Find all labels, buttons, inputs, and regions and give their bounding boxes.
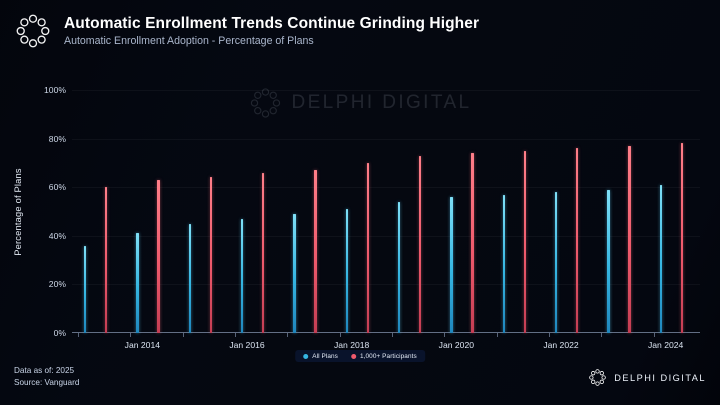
- page-subtitle: Automatic Enrollment Adoption - Percenta…: [64, 35, 479, 47]
- x-tick-label: Jan 2020: [439, 340, 474, 350]
- bar-1-000-participants-2021: [524, 151, 526, 333]
- page-title: Automatic Enrollment Trends Continue Gri…: [64, 15, 479, 33]
- bar-1-000-participants-2019: [419, 156, 421, 333]
- x-tick-mark: [130, 333, 131, 337]
- source-note: Source: Vanguard: [14, 378, 79, 387]
- x-tick-mark: [444, 333, 445, 337]
- bar-all-plans-2020: [450, 197, 452, 333]
- bar-1-000-participants-2017: [314, 170, 316, 333]
- grid-line: [72, 139, 700, 140]
- x-tick-mark: [287, 333, 288, 337]
- grid-line: [72, 187, 700, 188]
- x-tick-mark: [601, 333, 602, 337]
- footer-ring-icon: [588, 368, 607, 387]
- plot-area: Jan 2014Jan 2016Jan 2018Jan 2020Jan 2022…: [72, 90, 700, 333]
- bar-all-plans-2019: [398, 202, 400, 333]
- x-tick-mark: [497, 333, 498, 337]
- footer: Data as of: 2025 Source: Vanguard DELPHI…: [0, 358, 720, 405]
- x-tick-label: Jan 2022: [543, 340, 578, 350]
- x-tick-label: Jan 2018: [334, 340, 369, 350]
- bar-all-plans-2023: [607, 190, 609, 333]
- x-axis-line: [72, 332, 700, 333]
- x-tick-label: Jan 2014: [125, 340, 160, 350]
- bar-all-plans-2022: [555, 192, 557, 333]
- bar-all-plans-2024: [660, 185, 662, 333]
- bar-all-plans-2016: [241, 219, 243, 333]
- bar-1-000-participants-2024: [681, 143, 683, 333]
- header-titles: Automatic Enrollment Trends Continue Gri…: [64, 15, 479, 48]
- y-tick-label: 20%: [49, 279, 66, 289]
- x-tick-mark: [392, 333, 393, 337]
- chart-page: Automatic Enrollment Trends Continue Gri…: [0, 0, 720, 405]
- bar-1-000-participants-2020: [471, 153, 473, 333]
- bar-1-000-participants-2016: [262, 173, 264, 333]
- bar-1-000-participants-2018: [367, 163, 369, 333]
- x-tick-mark: [183, 333, 184, 337]
- x-tick-mark: [235, 333, 236, 337]
- header: Automatic Enrollment Trends Continue Gri…: [0, 0, 720, 62]
- footer-logo: DELPHI DIGITAL: [588, 368, 706, 387]
- bar-all-plans-2013: [84, 246, 86, 333]
- y-tick-label: 80%: [49, 134, 66, 144]
- y-tick-label: 100%: [44, 85, 66, 95]
- x-tick-mark: [340, 333, 341, 337]
- y-tick-label: 0%: [54, 328, 66, 338]
- x-tick-mark: [78, 333, 79, 337]
- bar-1-000-participants-2014: [157, 180, 159, 333]
- y-tick-label: 40%: [49, 231, 66, 241]
- bar-all-plans-2014: [136, 233, 138, 333]
- bar-1-000-participants-2013: [105, 187, 107, 333]
- chart: Percentage of Plans 0%20%40%60%80%100% J…: [0, 62, 720, 352]
- bar-all-plans-2021: [503, 195, 505, 334]
- x-tick-label: Jan 2024: [648, 340, 683, 350]
- grid-line: [72, 284, 700, 285]
- grid-line: [72, 90, 700, 91]
- bar-all-plans-2018: [346, 209, 348, 333]
- bar-1-000-participants-2015: [210, 177, 212, 333]
- bar-all-plans-2017: [293, 214, 295, 333]
- x-tick-mark: [549, 333, 550, 337]
- x-tick-label: Jan 2016: [229, 340, 264, 350]
- bar-1-000-participants-2022: [576, 148, 578, 333]
- delphi-ring-icon: [14, 12, 52, 50]
- data-as-of-note: Data as of: 2025: [14, 366, 74, 375]
- footer-logo-text: DELPHI DIGITAL: [614, 373, 706, 383]
- grid-line: [72, 236, 700, 237]
- y-axis-ticks: 0%20%40%60%80%100%: [0, 90, 66, 333]
- bar-all-plans-2015: [189, 224, 191, 333]
- y-tick-label: 60%: [49, 182, 66, 192]
- x-tick-mark: [654, 333, 655, 337]
- bar-1-000-participants-2023: [628, 146, 630, 333]
